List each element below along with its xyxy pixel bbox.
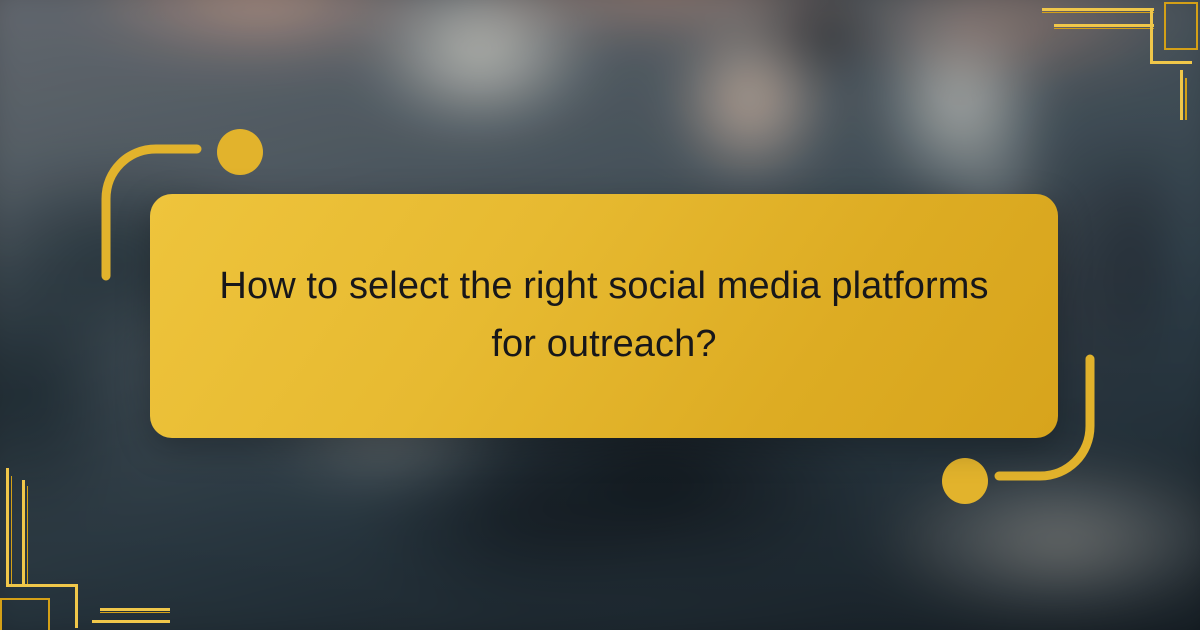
headline-card: How to select the right social media pla… bbox=[150, 194, 1058, 438]
frame-bottom-left-icon bbox=[0, 460, 170, 630]
headline-text: How to select the right social media pla… bbox=[208, 258, 1000, 374]
dot-bottom-right-icon bbox=[942, 458, 988, 504]
dot-top-left-icon bbox=[217, 129, 263, 175]
frame-top-right-icon bbox=[1040, 0, 1200, 120]
share-card-canvas: How to select the right social media pla… bbox=[0, 0, 1200, 630]
